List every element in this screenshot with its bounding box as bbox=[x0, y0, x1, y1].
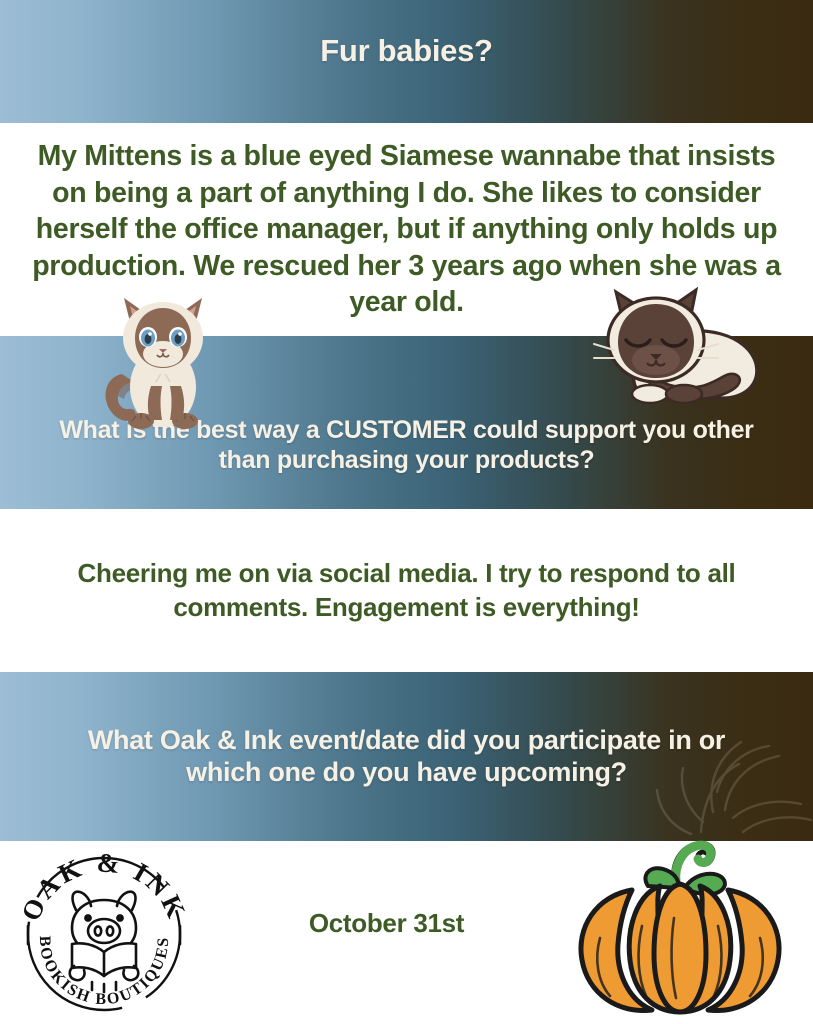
header-question-band: Fur babies? bbox=[0, 0, 813, 123]
page-title: Fur babies? bbox=[320, 33, 492, 70]
answer-text-3: October 31st bbox=[309, 907, 464, 940]
logo-top-text: OAK & INK bbox=[18, 848, 190, 925]
answer-section-2: Cheering me on via social media. I try t… bbox=[0, 509, 813, 672]
pumpkin-illustration bbox=[556, 828, 804, 1024]
pig-reading-book-icon bbox=[70, 892, 139, 992]
answer-text-2: Cheering me on via social media. I try t… bbox=[0, 557, 813, 624]
poster-page: Fur babies? My Mittens is a blue eyed Si… bbox=[0, 0, 813, 1024]
question-band-3: What Oak & Ink event/date did you partic… bbox=[0, 672, 813, 841]
oak-and-ink-logo: OAK & INK BOOKISH BOUTIQUES bbox=[18, 848, 190, 1020]
question-text-3: What Oak & Ink event/date did you partic… bbox=[0, 725, 813, 789]
sleeping-siamese-cat-illustration bbox=[592, 278, 768, 406]
sitting-siamese-cat-illustration bbox=[96, 282, 224, 434]
